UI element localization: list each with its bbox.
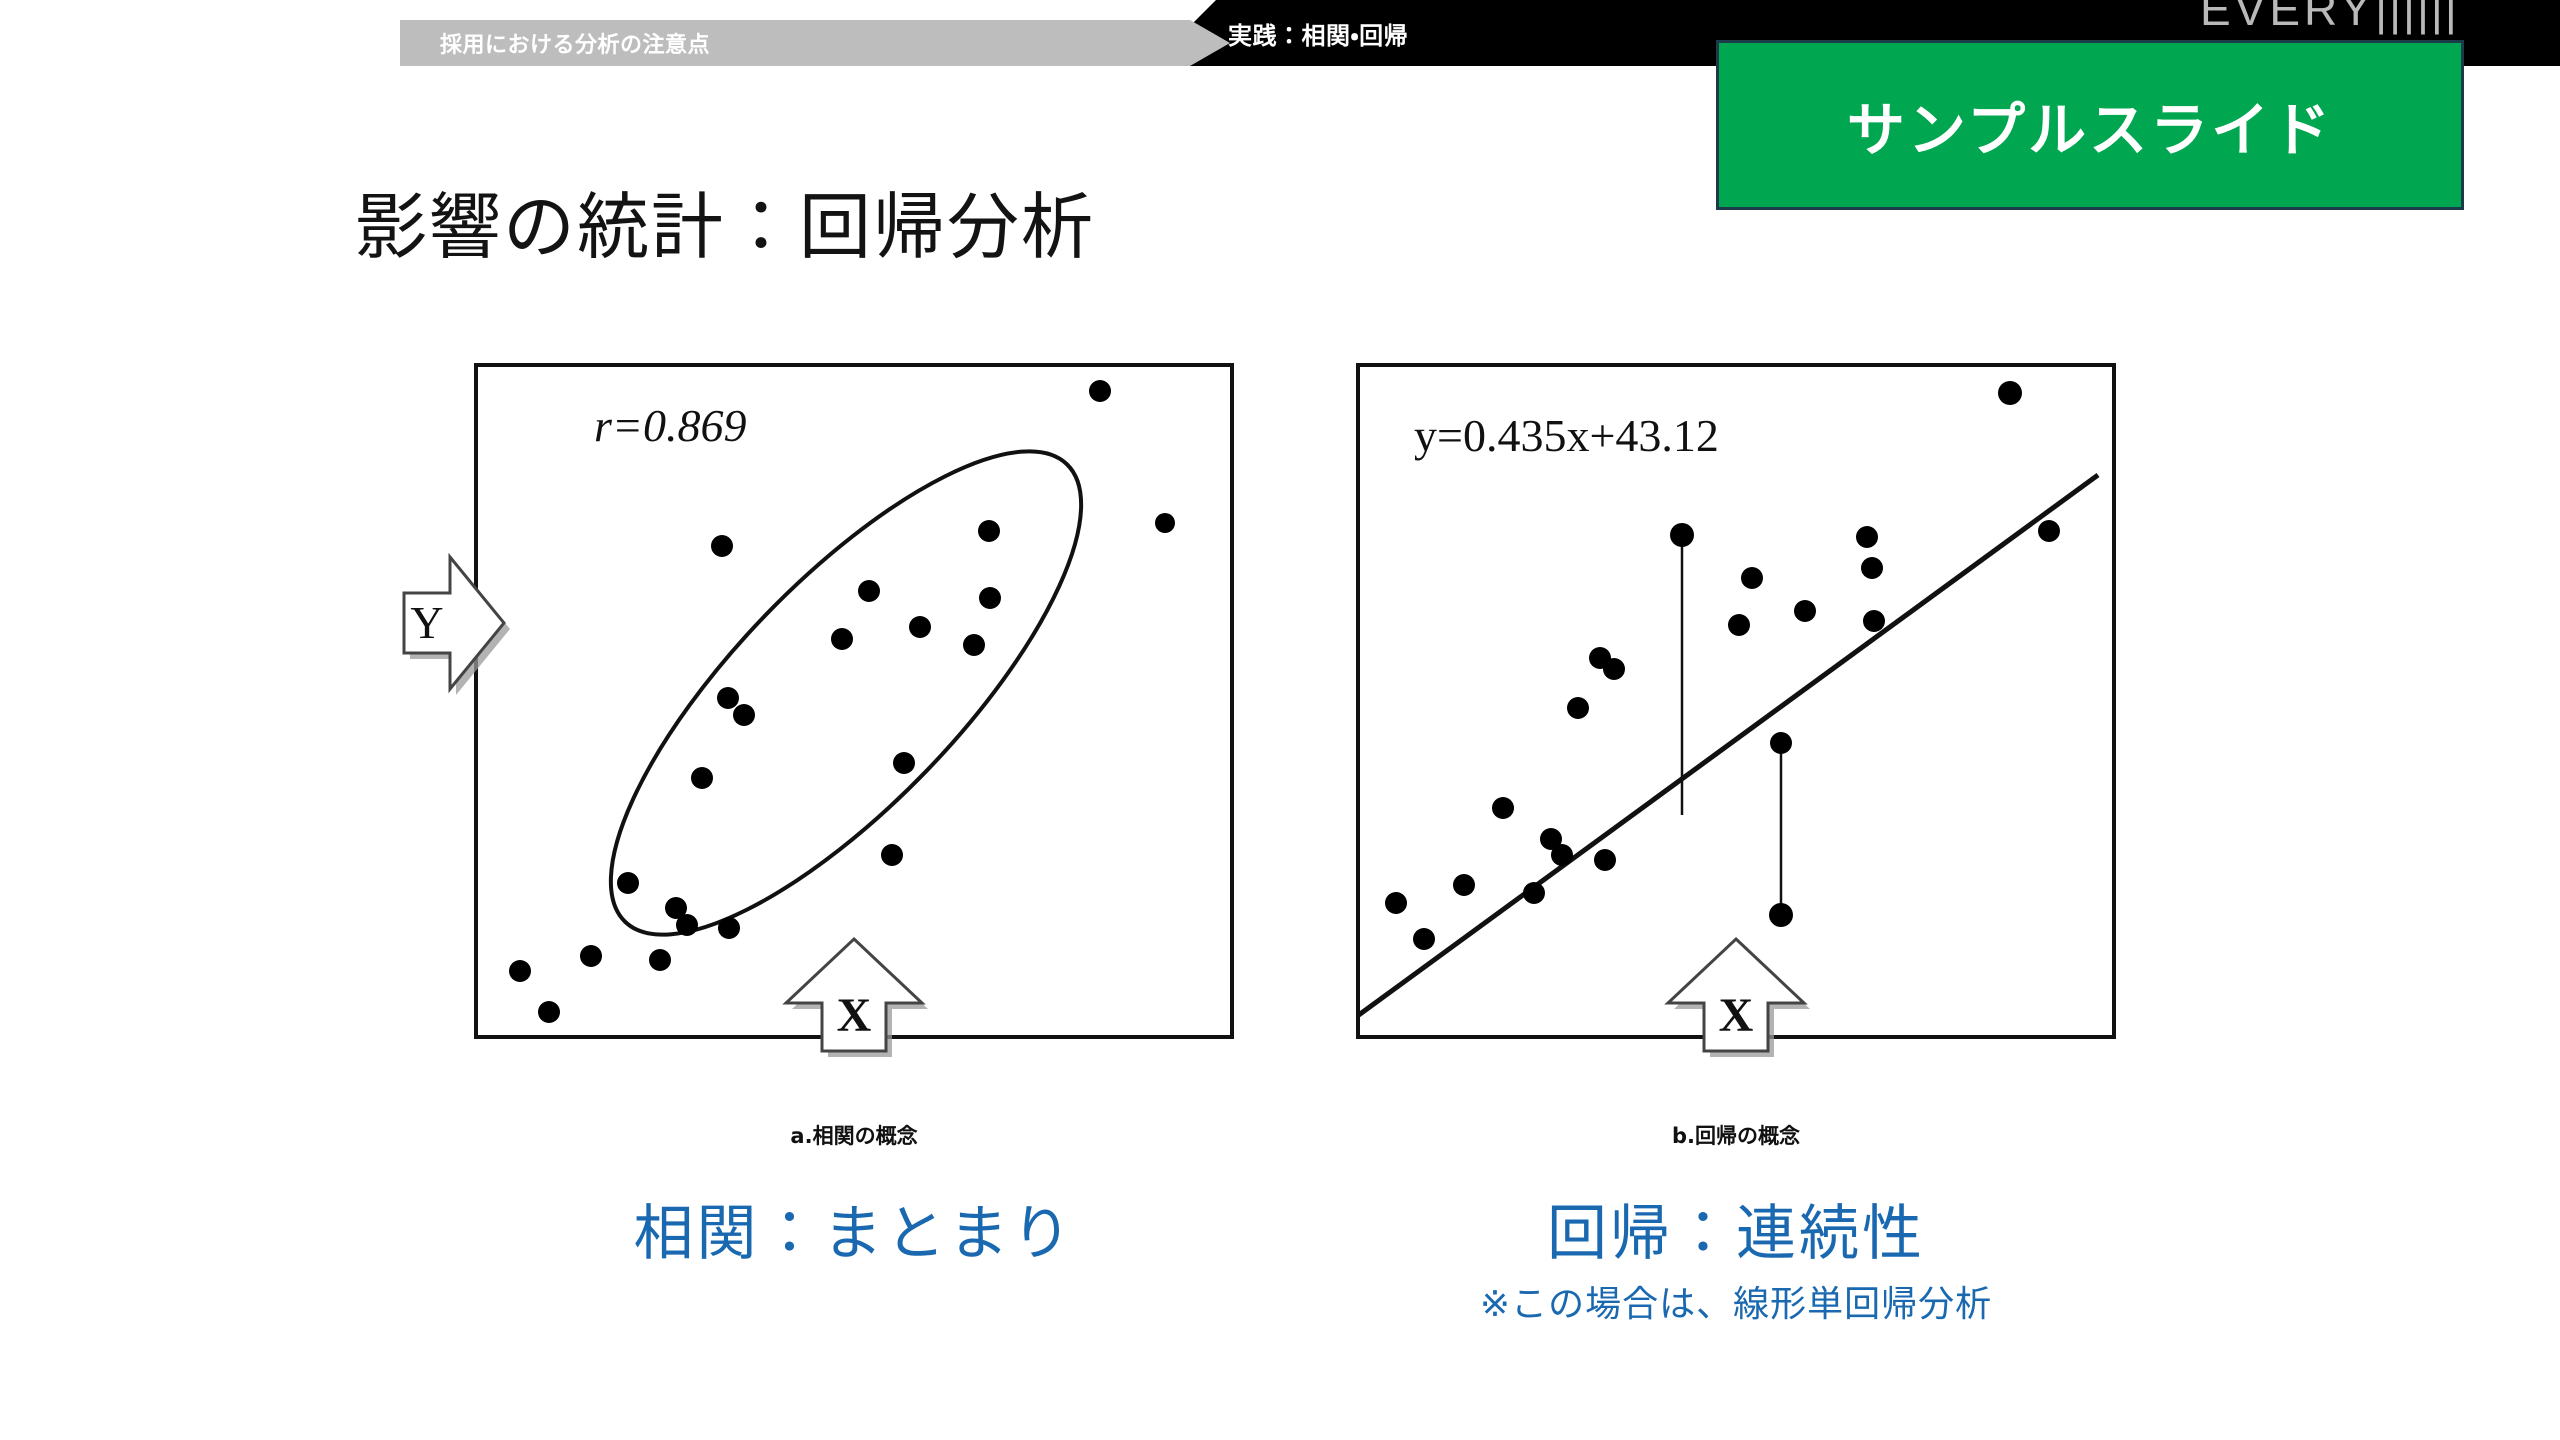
breadcrumb-section[interactable]: 採用における分析の注意点	[440, 20, 710, 66]
x-axis-arrow-callout-a: X	[774, 933, 934, 1063]
y-axis-arrow-callout: Y	[394, 543, 514, 703]
figure-b-blue-note: 回帰：連続性	[1356, 1185, 2116, 1272]
figure-b-caption: b.回帰の概念	[1356, 1120, 2116, 1150]
figure-b-blue-subnote: ※この場合は、線形単回帰分析	[1286, 1275, 2186, 1327]
watermark-bars-icon: ||||||	[2375, 0, 2459, 35]
x-axis-label-a: X	[837, 989, 872, 1042]
x-axis-label-b: X	[1719, 989, 1754, 1042]
page-title: 影響の統計：回帰分析	[355, 168, 1095, 273]
watermark-text: EVERY	[2200, 0, 2375, 35]
figure-a-caption: a.相関の概念	[474, 1120, 1234, 1150]
regression-annotation-b: y=0.435x+43.12	[1414, 410, 1719, 461]
x-axis-arrow-callout-b: X	[1656, 933, 1816, 1063]
figure-a-correlation: r=0.869 Y X	[474, 363, 1234, 1039]
breadcrumb-current[interactable]: 実践：相関・回帰	[1228, 0, 1408, 66]
y-axis-label: Y	[410, 597, 443, 648]
correlation-annotation-a: r=0.869	[594, 400, 746, 451]
sample-slide-badge: サンプルスライド	[1716, 40, 2464, 210]
figure-a-blue-note: 相関：まとまり	[474, 1185, 1234, 1272]
brand-watermark: EVERY||||||	[2200, 0, 2459, 36]
sample-slide-badge-label: サンプルスライド	[1847, 83, 2333, 167]
figure-b-regression: y=0.435x+43.12 X	[1356, 363, 2116, 1039]
